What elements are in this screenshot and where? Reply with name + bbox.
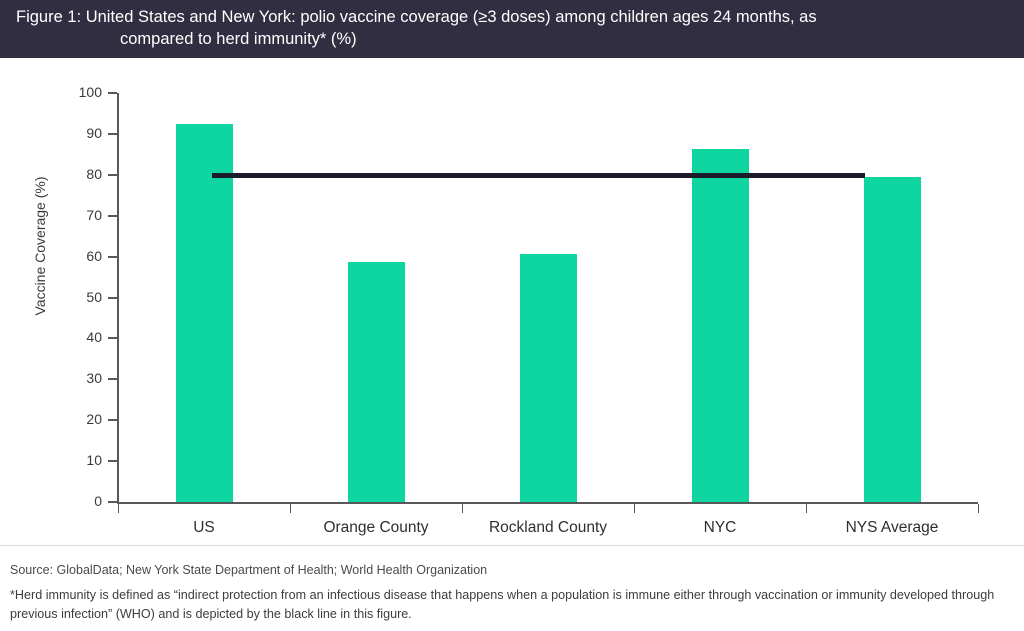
bar[interactable] [348,262,405,502]
y-axis-tick-mark [108,460,117,462]
footer-divider [0,545,1024,546]
y-axis-tick-mark [108,378,117,380]
y-axis-tick-mark [108,337,117,339]
title-text-before-symbol: Figure 1: United States and New York: po… [16,8,478,26]
y-axis-tick-label: 70 [56,207,102,223]
y-axis-tick-label: 50 [56,289,102,305]
figure-title-line-2: compared to herd immunity* (%) [120,28,1000,50]
y-axis-tick-mark [108,215,117,217]
y-axis-tick-label: 20 [56,411,102,427]
bar[interactable] [692,149,749,502]
bar[interactable] [520,254,577,502]
herd-immunity-line [212,173,865,178]
y-axis-tick-label: 0 [56,493,102,509]
figure-page: Figure 1: United States and New York: po… [0,0,1024,631]
y-axis-title: Vaccine Coverage (%) [32,146,48,346]
y-axis-tick-mark [108,174,117,176]
bar[interactable] [864,177,921,502]
x-axis-tick-mark [978,504,979,513]
y-axis-tick-label: 80 [56,166,102,182]
greater-than-or-equal-icon: ≥ [478,6,487,28]
x-axis-line [117,502,978,504]
title-text-after-symbol: 3 doses) among children ages 24 months, … [487,8,816,26]
x-axis-tick-mark [462,504,463,513]
y-axis-tick-label: 10 [56,452,102,468]
x-axis-tick-label: US [114,519,294,537]
source-note: Source: GlobalData; New York State Depar… [10,563,487,577]
y-axis-tick-mark [108,133,117,135]
x-axis-tick-mark [290,504,291,513]
x-axis-tick-label: NYC [630,519,810,537]
bar-chart: 0102030405060708090100 Vaccine Coverage … [0,58,1024,545]
y-axis-tick-labels: 0102030405060708090100 [50,58,102,545]
y-axis-tick-mark [108,501,117,503]
y-axis-tick-mark [108,297,117,299]
x-axis-tick-mark [634,504,635,513]
figure-title-banner: Figure 1: United States and New York: po… [0,0,1024,58]
x-axis-tick-label: Orange County [286,519,466,537]
y-axis-tick-mark [108,92,117,94]
y-axis-tick-label: 60 [56,248,102,264]
x-axis-tick-label: NYS Average [802,519,982,537]
x-axis-tick-mark [806,504,807,513]
y-axis-tick-label: 100 [56,84,102,100]
y-axis-tick-label: 30 [56,370,102,386]
y-axis-tick-mark [108,419,117,421]
y-axis-tick-label: 90 [56,125,102,141]
x-axis-tick-mark [118,504,119,513]
figure-title-line-1: Figure 1: United States and New York: po… [16,6,1006,28]
x-axis-tick-label: Rockland County [458,519,638,537]
y-axis-tick-label: 40 [56,329,102,345]
herd-immunity-footnote: *Herd immunity is defined as “indirect p… [10,586,1014,624]
bar[interactable] [176,124,233,502]
y-axis-line [117,93,119,503]
y-axis-tick-mark [108,256,117,258]
